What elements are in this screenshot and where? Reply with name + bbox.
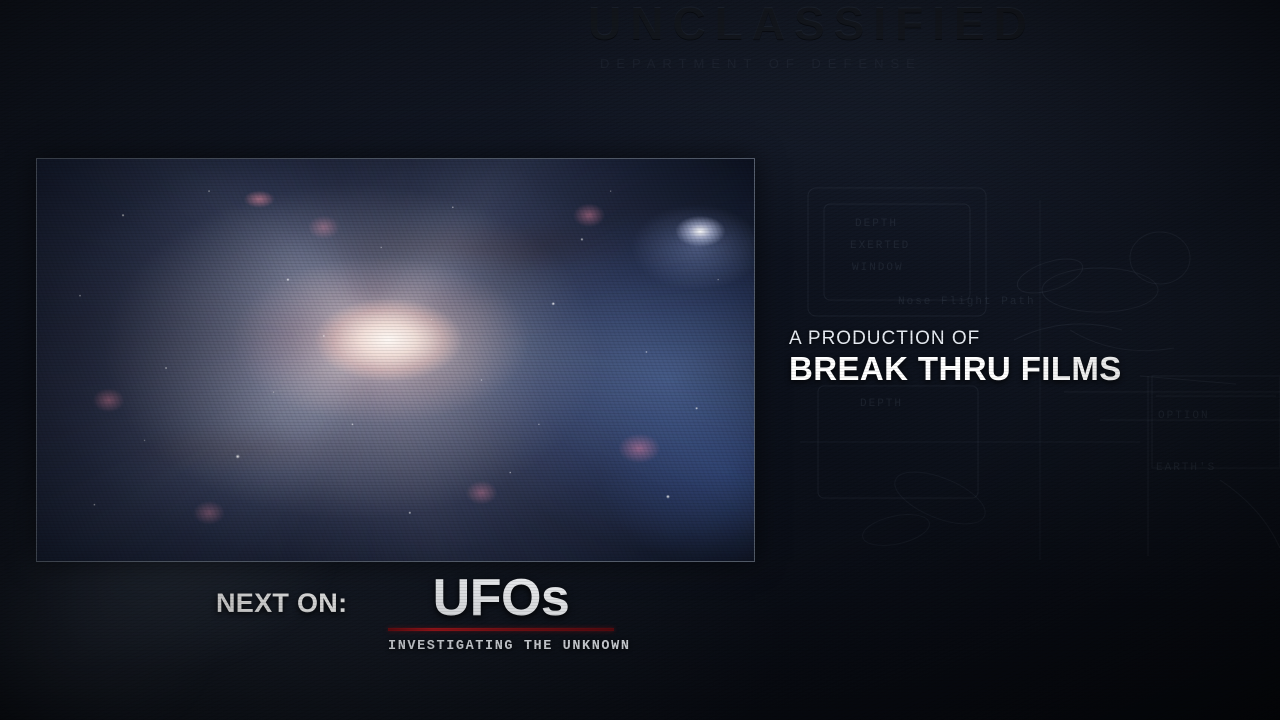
show-logo-rule [388, 628, 614, 631]
production-company-name: BREAK THRU FILMS [789, 350, 1122, 388]
galaxy-grain-texture [37, 159, 754, 561]
video-frame: UNCLASSIFIED DEPARTMENT OF DEFENSE DEPTH… [0, 0, 1280, 720]
show-title: UFOs [388, 572, 614, 624]
spiral-galaxy-photo [37, 159, 754, 561]
next-on-label: NEXT ON: [216, 588, 347, 619]
production-credit-prefix: A PRODUCTION OF [789, 328, 980, 350]
show-tagline: INVESTIGATING THE UNKNOWN [388, 639, 614, 654]
galaxy-photo-frame [36, 158, 755, 562]
show-logo: UFOs INVESTIGATING THE UNKNOWN [388, 572, 614, 654]
